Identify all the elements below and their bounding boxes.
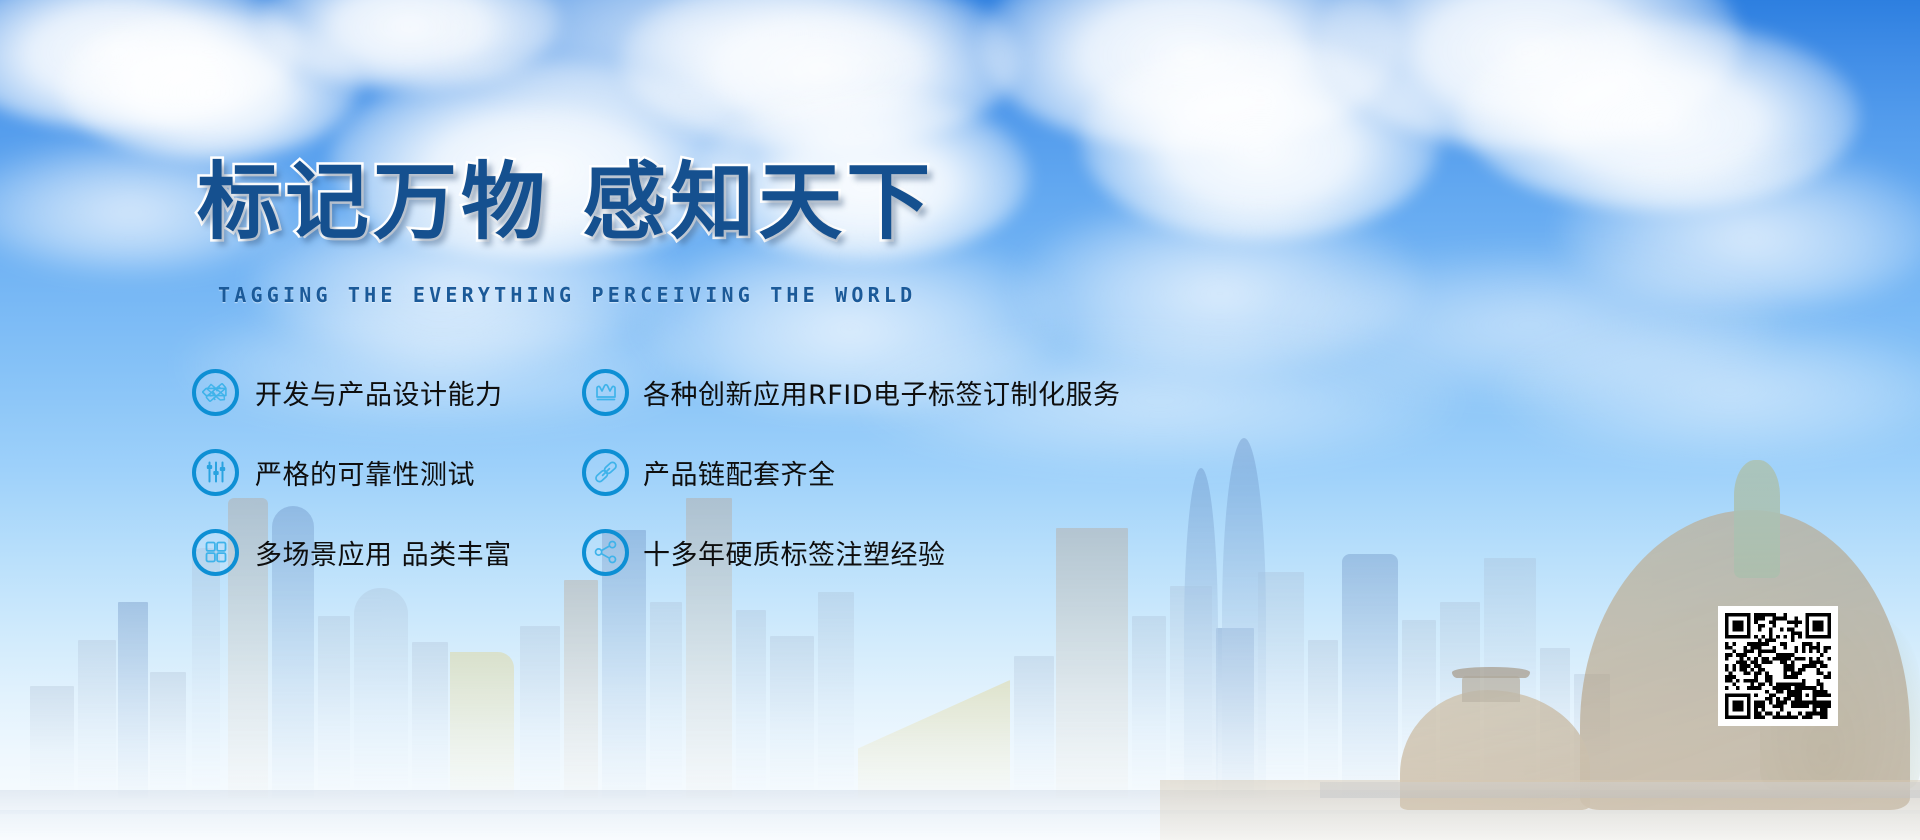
chain-link-icon	[582, 449, 629, 496]
building	[1014, 656, 1054, 798]
building	[450, 652, 514, 798]
building	[858, 680, 1010, 798]
building	[118, 602, 148, 798]
page-subtitle: TAGGING THE EVERYTHING PERCEIVING THE WO…	[218, 283, 916, 307]
pavilion	[1462, 676, 1520, 702]
building	[318, 616, 350, 798]
feature-label: 多场景应用 品类丰富	[255, 533, 512, 572]
building	[78, 640, 116, 798]
feature-label: 各种创新应用RFID电子标签订制化服务	[643, 373, 1121, 412]
feature-item-injection-experience: 十多年硬质标签注塑经验	[582, 512, 1302, 592]
building	[564, 580, 598, 798]
feature-label: 十多年硬质标签注塑经验	[643, 533, 946, 572]
feature-item-design-capability: 开发与产品设计能力	[192, 352, 582, 432]
grid-squares-icon	[192, 529, 239, 576]
ruler-pencil-icon	[192, 369, 239, 416]
building	[1308, 640, 1338, 798]
building	[30, 686, 74, 798]
share-nodes-icon	[582, 529, 629, 576]
feature-item-multi-scenario: 多场景应用 品类丰富	[192, 512, 582, 592]
building	[354, 588, 408, 798]
building	[818, 592, 854, 798]
feature-row: 开发与产品设计能力 各种创新应用RFID电子标签订制化服务	[192, 352, 1312, 432]
building	[1132, 616, 1166, 798]
feature-row: 多场景应用 品类丰富 十多年硬质标签注塑经验	[192, 512, 1312, 592]
building	[736, 610, 766, 798]
feature-item-rfid-custom-service: 各种创新应用RFID电子标签订制化服务	[582, 352, 1302, 432]
building	[650, 602, 682, 798]
feature-label: 开发与产品设计能力	[255, 373, 503, 412]
page-title: 标记万物 感知天下	[197, 160, 934, 244]
qr-code[interactable]	[1718, 606, 1838, 726]
crown-icon	[582, 369, 629, 416]
building	[520, 626, 560, 798]
building	[412, 642, 448, 798]
sliders-icon	[192, 449, 239, 496]
building	[150, 672, 186, 798]
feature-list: 开发与产品设计能力 各种创新应用RFID电子标签订制化服务	[192, 352, 1312, 592]
feature-item-product-chain: 产品链配套齐全	[582, 432, 1302, 512]
feature-item-reliability-testing: 严格的可靠性测试	[192, 432, 582, 512]
feature-label: 严格的可靠性测试	[255, 453, 475, 492]
beach	[1160, 780, 1920, 840]
building	[770, 636, 814, 798]
promo-banner: 标记万物 感知天下 TAGGING THE EVERYTHING PERCEIV…	[0, 0, 1920, 840]
feature-label: 产品链配套齐全	[643, 453, 836, 492]
qr-code-image	[1725, 613, 1831, 719]
feature-row: 严格的可靠性测试 产品链配套齐全	[192, 432, 1312, 512]
statue	[1734, 460, 1780, 578]
